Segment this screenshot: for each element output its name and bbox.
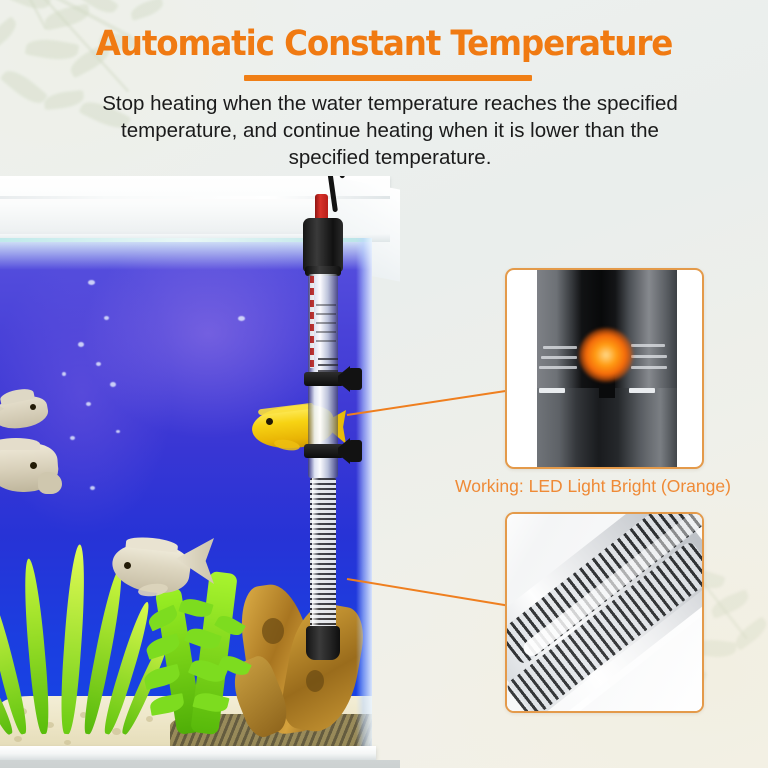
tank-glass-right-edge — [356, 238, 372, 750]
bubble — [96, 362, 101, 366]
led-caption: Working: LED Light Bright (Orange) — [418, 476, 768, 497]
fish-pale-cichlid-left — [0, 434, 80, 500]
heater-suction-bracket-lower — [300, 438, 366, 464]
led-indicator-glow — [579, 328, 633, 382]
bubble — [110, 382, 116, 387]
heater-cap-notch-right — [629, 388, 655, 393]
bubble — [238, 316, 245, 321]
tank-bottom-rim — [0, 746, 376, 760]
aquarium-photo — [0, 176, 400, 768]
heater-coil-glass-sheen — [312, 478, 319, 628]
heater-grip-ridge — [539, 366, 577, 369]
heater-scale-mark — [318, 358, 338, 360]
callout-inset-coil — [505, 512, 704, 713]
title-underline-rule — [244, 75, 532, 81]
gravel-speck — [64, 740, 71, 745]
heater-cap — [303, 218, 343, 272]
heater-suction-bracket-upper — [300, 366, 366, 392]
bubble — [88, 280, 95, 285]
promo-image-root: Automatic Constant Temperature Stop heat… — [0, 0, 768, 768]
callout-inset-led — [505, 268, 704, 469]
heater-grip-ridge — [541, 356, 577, 359]
heater-grip-ridge — [543, 346, 577, 349]
fish-pale-cichlid-center — [104, 532, 222, 602]
heater-foot — [306, 626, 340, 660]
bubble — [86, 402, 91, 406]
page-subtitle: Stop heating when the water temperature … — [92, 90, 688, 171]
heater-scale-stripe — [310, 276, 314, 368]
heater-cap-closeup-lower — [537, 388, 677, 467]
heater-cap-notch-left — [539, 388, 565, 393]
heater-grip-ridge — [631, 366, 667, 369]
bubble — [116, 430, 120, 433]
heater-label-print — [316, 304, 336, 348]
page-title: Automatic Constant Temperature — [27, 24, 741, 64]
bubble — [104, 316, 109, 320]
coil-closeup-photo — [505, 512, 704, 713]
fish-small-top-left — [0, 390, 68, 438]
heater-grip-ridge — [631, 344, 665, 347]
bubble — [62, 372, 66, 376]
gravel-speck — [14, 736, 22, 742]
bubble — [78, 342, 84, 347]
bubble — [90, 486, 95, 490]
table-surface-shadow — [0, 760, 400, 768]
heater-grip-ridge — [631, 355, 667, 358]
